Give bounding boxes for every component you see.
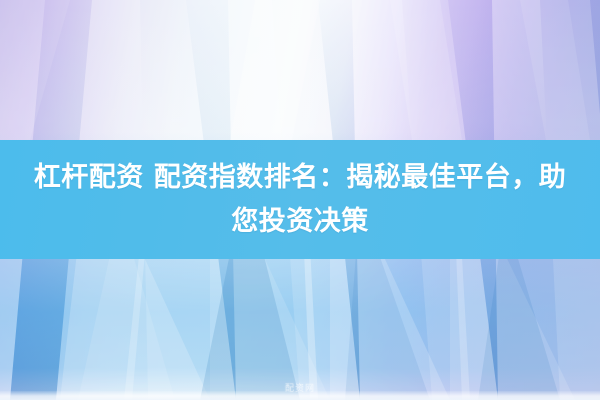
title-banner-bar: 杠杆配资 配资指数排名：揭秘最佳平台，助您投资决策: [0, 140, 600, 259]
watermark-text: 配资网: [285, 381, 315, 394]
banner-image: 杠杆配资 配资指数排名：揭秘最佳平台，助您投资决策 配资网: [0, 0, 600, 400]
banner-title: 杠杆配资 配资指数排名：揭秘最佳平台，助您投资决策: [22, 156, 578, 244]
